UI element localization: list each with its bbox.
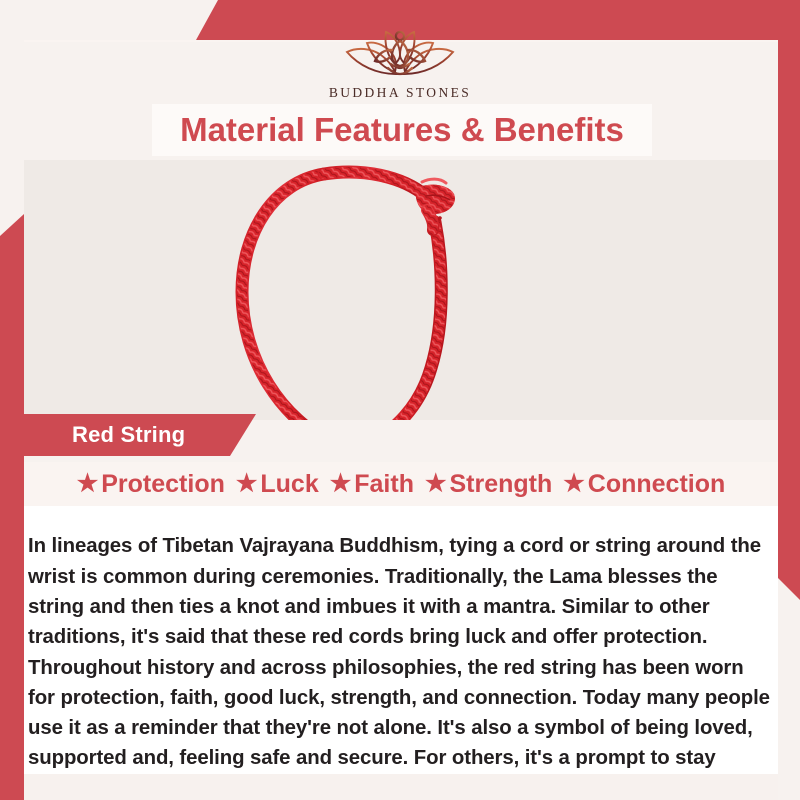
- star-icon: ★: [236, 472, 258, 496]
- star-icon: ★: [563, 472, 585, 496]
- list-item: ★ Luck: [236, 470, 319, 499]
- page-title: Material Features & Benefits: [180, 111, 624, 149]
- benefits-list: ★ Protection ★ Luck ★ Faith ★ Strength ★…: [24, 462, 778, 506]
- list-item: ★ Protection: [77, 470, 225, 499]
- material-label: Red String: [72, 422, 185, 448]
- list-item: ★ Faith: [330, 470, 414, 499]
- infographic-card: BUDDHA STONES Material Features & Benefi…: [0, 0, 800, 800]
- red-string-bracelet-icon: [202, 160, 572, 420]
- star-icon: ★: [425, 472, 447, 496]
- list-item: ★ Connection: [563, 470, 725, 499]
- star-icon: ★: [330, 472, 352, 496]
- lotus-meditation-icon: [333, 14, 467, 82]
- brand-name: BUDDHA STONES: [0, 85, 800, 101]
- benefit-label: Connection: [588, 470, 726, 499]
- benefit-label: Faith: [354, 470, 414, 499]
- decorative-left-bar: [0, 214, 24, 800]
- header: BUDDHA STONES: [0, 0, 800, 108]
- brand-logo: BUDDHA STONES: [0, 14, 800, 101]
- status-badge: Red String: [0, 414, 256, 456]
- star-icon: ★: [77, 472, 99, 496]
- benefit-label: Luck: [260, 470, 318, 499]
- title-banner: Material Features & Benefits: [152, 104, 652, 156]
- decorative-bottom-strip: [24, 774, 778, 800]
- description-text: In lineages of Tibetan Vajrayana Buddhis…: [28, 531, 774, 800]
- benefit-label: Strength: [449, 470, 552, 499]
- product-photo: [24, 160, 778, 420]
- description-panel: In lineages of Tibetan Vajrayana Buddhis…: [24, 506, 778, 774]
- list-item: ★ Strength: [425, 470, 552, 499]
- benefit-label: Protection: [101, 470, 225, 499]
